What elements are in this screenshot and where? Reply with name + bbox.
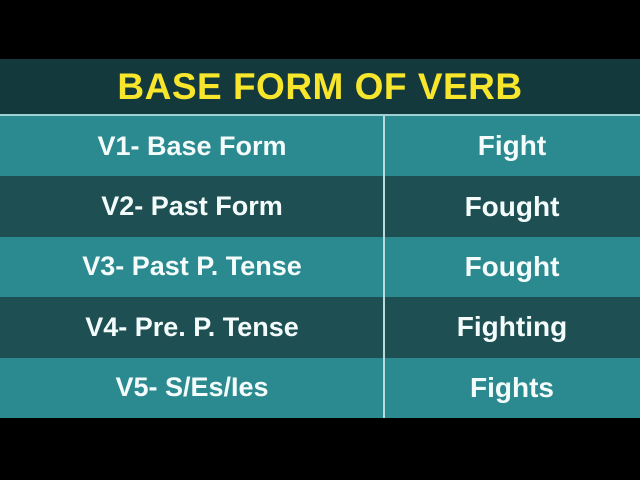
verb-forms-card: BASE FORM OF VERB V1- Base Form Fight V2… [0,59,640,418]
screen: BASE FORM OF VERB V1- Base Form Fight V2… [0,0,640,480]
table-row: V3- Past P. Tense Fought [0,237,640,297]
card-header: BASE FORM OF VERB [0,59,640,114]
cell-verb-example: Fought [384,176,640,236]
cell-verb-example: Fights [384,358,640,418]
letterbox-top [0,0,640,59]
cell-verb-form: V2- Past Form [0,176,384,236]
table-row: V4- Pre. P. Tense Fighting [0,297,640,357]
table-row: V2- Past Form Fought [0,176,640,236]
cell-verb-example: Fought [384,237,640,297]
table-row: V1- Base Form Fight [0,116,640,176]
cell-verb-form: V4- Pre. P. Tense [0,297,384,357]
letterbox-bottom [0,418,640,480]
table-row: V5- S/Es/Ies Fights [0,358,640,418]
cell-verb-example: Fighting [384,297,640,357]
cell-verb-example: Fight [384,116,640,176]
page-title: BASE FORM OF VERB [117,68,522,105]
column-divider [383,116,385,418]
cell-verb-form: V1- Base Form [0,116,384,176]
verb-forms-table: V1- Base Form Fight V2- Past Form Fought… [0,116,640,418]
cell-verb-form: V5- S/Es/Ies [0,358,384,418]
cell-verb-form: V3- Past P. Tense [0,237,384,297]
